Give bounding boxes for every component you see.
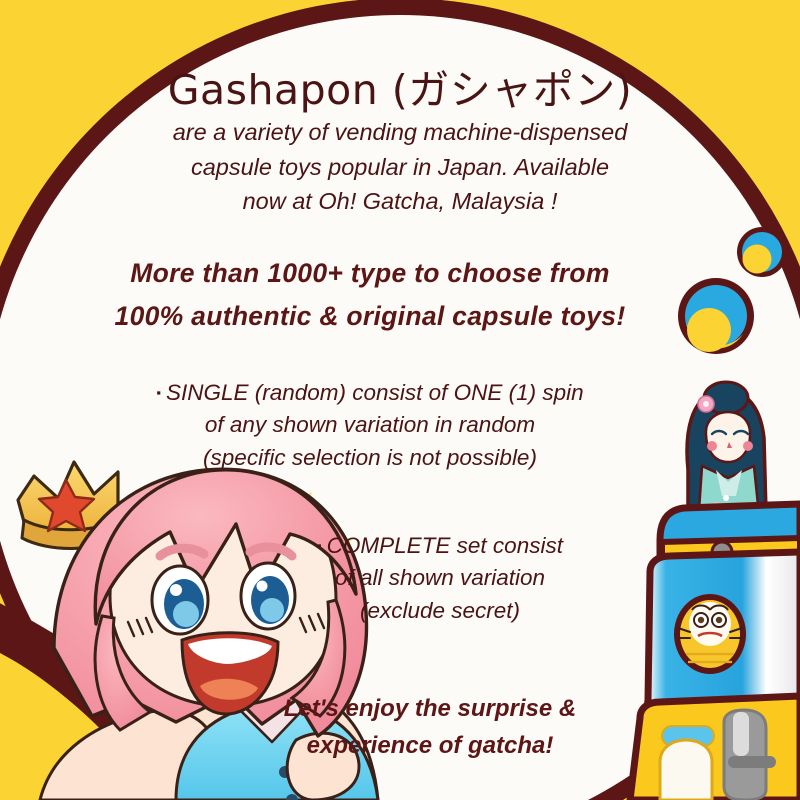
bullet-text: SINGLE (random) consist of ONE (1) spin	[166, 380, 584, 405]
closing-line: experience of gatcha!	[210, 727, 650, 764]
bullet-complete: ▪COMPLETE set consist of all shown varia…	[230, 530, 650, 627]
closing-line: Let's enjoy the surprise &	[210, 690, 650, 727]
lead-line: now at Oh! Gatcha, Malaysia !	[120, 184, 680, 219]
lead-line: capsule toys popular in Japan. Available	[120, 150, 680, 185]
headline: More than 1000+ type to choose from 100%…	[40, 252, 700, 338]
poster-canvas: Gashapon (ガシャポン) are a variety of vendin…	[0, 0, 800, 800]
bullet-line: (exclude secret)	[230, 595, 650, 627]
daruma-icon	[674, 594, 746, 674]
capsule-ball-icon	[737, 227, 787, 277]
bullet-text: COMPLETE set consist	[327, 533, 563, 558]
bullet-single: ▪SINGLE (random) consist of ONE (1) spin…	[110, 377, 630, 474]
headline-line: More than 1000+ type to choose from	[40, 252, 700, 295]
bullet-line: of all shown variation	[230, 562, 650, 594]
bullet-line: ▪COMPLETE set consist	[230, 530, 650, 562]
bullet-marker-icon: ▪	[317, 538, 322, 553]
bullet-line: (specific selection is not possible)	[110, 442, 630, 474]
lead-paragraph: are a variety of vending machine-dispens…	[120, 115, 680, 219]
bullet-line: of any shown variation in random	[110, 409, 630, 441]
closing-message: Let's enjoy the surprise & experience of…	[210, 690, 650, 765]
bullet-marker-icon: ▪	[156, 385, 161, 400]
lead-line: are a variety of vending machine-dispens…	[120, 115, 680, 150]
bullet-line: ▪SINGLE (random) consist of ONE (1) spin	[110, 377, 630, 409]
headline-line: 100% authentic & original capsule toys!	[40, 295, 700, 338]
page-title: Gashapon (ガシャポン)	[0, 56, 800, 116]
